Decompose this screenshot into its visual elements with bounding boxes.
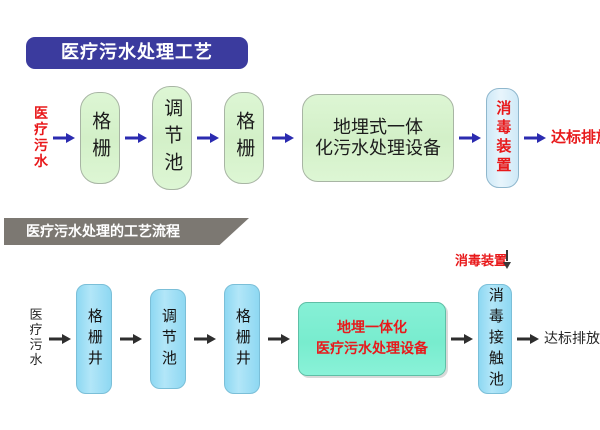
disinfection-callout-label: 消毒装置 [455,254,507,269]
arrow-right-icon [451,331,473,347]
arrow-right-icon [49,331,71,347]
top-section-title-text: 医疗污水处理工艺 [61,44,213,62]
process-box-disinfection-device[interactable]: 消毒装置 [486,88,519,188]
process-box-buried-integrated-equipment[interactable]: 地埋一体化 医疗污水处理设备 [298,302,446,376]
arrow-right-icon [524,130,546,146]
arrow-right-icon [197,130,219,146]
bottom-flow-outlet-label: 达标排放 [544,331,600,347]
process-box-disinfection-contact-tank[interactable]: 消毒接触池 [478,284,512,394]
process-box-buried-integrated-equipment[interactable]: 地埋式一体 化污水处理设备 [302,94,454,182]
process-box-grille-well-2[interactable]: 格栅井 [224,284,260,394]
top-flow-outlet-label: 达标排放 [551,129,600,146]
arrow-right-icon [272,130,294,146]
process-box-grille-2[interactable]: 格栅 [224,92,264,184]
arrow-right-icon [194,331,216,347]
arrow-right-icon [53,130,75,146]
process-box-label: 调节池 [159,308,177,371]
bottom-section-title-banner: 医疗污水处理的工艺流程 [4,218,249,245]
process-box-label: 消毒接触池 [486,287,504,392]
process-box-label: 地埋一体化 医疗污水处理设备 [316,318,428,360]
process-box-regulating-tank[interactable]: 调节池 [150,289,186,389]
top-flow-inlet-label: 医疗 污水 [34,106,48,170]
process-box-label: 格栅 [233,111,255,165]
arrow-right-icon [120,331,142,347]
bottom-process-flow: 医疗 污水 格栅井 调节池 格栅井 地埋一体化 医疗污水处理设备 消毒接触池 [28,284,600,394]
disinfection-callout: 消毒装置 [433,250,529,269]
top-section-title-banner: 医疗污水处理工艺 [26,37,248,69]
arrow-right-icon [517,331,539,347]
process-box-label: 消毒装置 [494,100,512,176]
process-box-label: 地埋式一体 化污水处理设备 [315,117,441,159]
process-box-label: 格栅井 [233,308,251,371]
process-box-label: 格栅 [89,111,111,165]
bottom-flow-inlet-label: 医疗 污水 [28,309,44,369]
process-box-label: 格栅井 [85,308,103,371]
arrow-right-icon [125,130,147,146]
arrow-right-icon [268,331,290,347]
process-box-grille-1[interactable]: 格栅 [80,92,120,184]
process-box-grille-well-1[interactable]: 格栅井 [76,284,112,394]
bottom-section-title-text: 医疗污水处理的工艺流程 [4,225,180,239]
process-box-label: 调节池 [161,98,183,179]
arrow-right-icon [459,130,481,146]
top-process-flow: 医疗 污水 格栅 调节池 格栅 地埋式一体 化污水处理设备 消毒装置 [34,86,600,190]
process-box-regulating-tank[interactable]: 调节池 [152,86,192,190]
